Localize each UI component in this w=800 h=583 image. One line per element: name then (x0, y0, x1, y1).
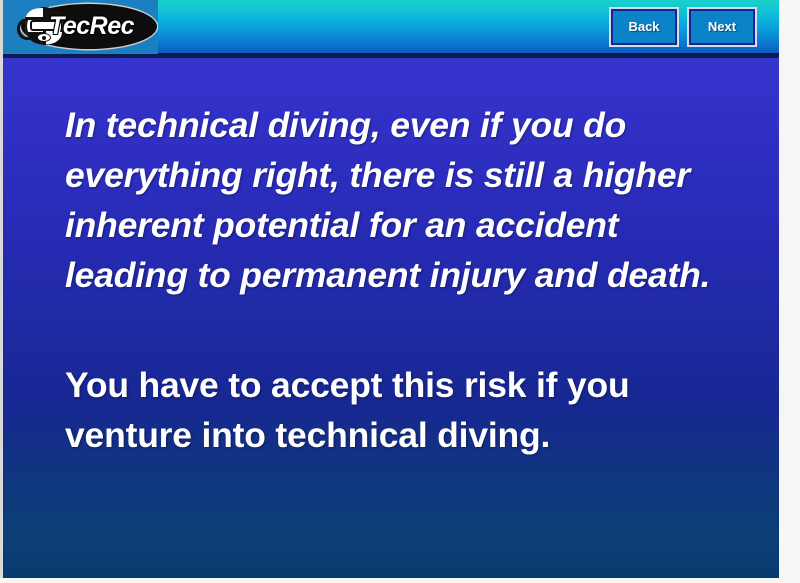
brand-wordmark: TecRec (49, 8, 153, 44)
frame-edge-right (779, 0, 800, 583)
paragraph-risk-statement: In technical diving, even if you do ever… (65, 100, 725, 300)
helmet-pupil-shape (42, 36, 46, 40)
slide-canvas: TecRec Back Next In technical diving, ev… (3, 0, 779, 578)
paragraph-spacer (65, 300, 725, 360)
next-button[interactable]: Next (689, 9, 755, 45)
paragraph-acceptance-statement: You have to accept this risk if you vent… (65, 360, 725, 460)
frame-edge-bottom (0, 578, 800, 583)
slide-frame: TecRec Back Next In technical diving, ev… (0, 0, 800, 583)
back-button[interactable]: Back (611, 9, 677, 45)
slide-content: In technical diving, even if you do ever… (65, 100, 725, 460)
frame-edge-left (0, 0, 3, 583)
brand-logo: TecRec (3, 0, 158, 54)
slide-body: In technical diving, even if you do ever… (3, 58, 779, 578)
